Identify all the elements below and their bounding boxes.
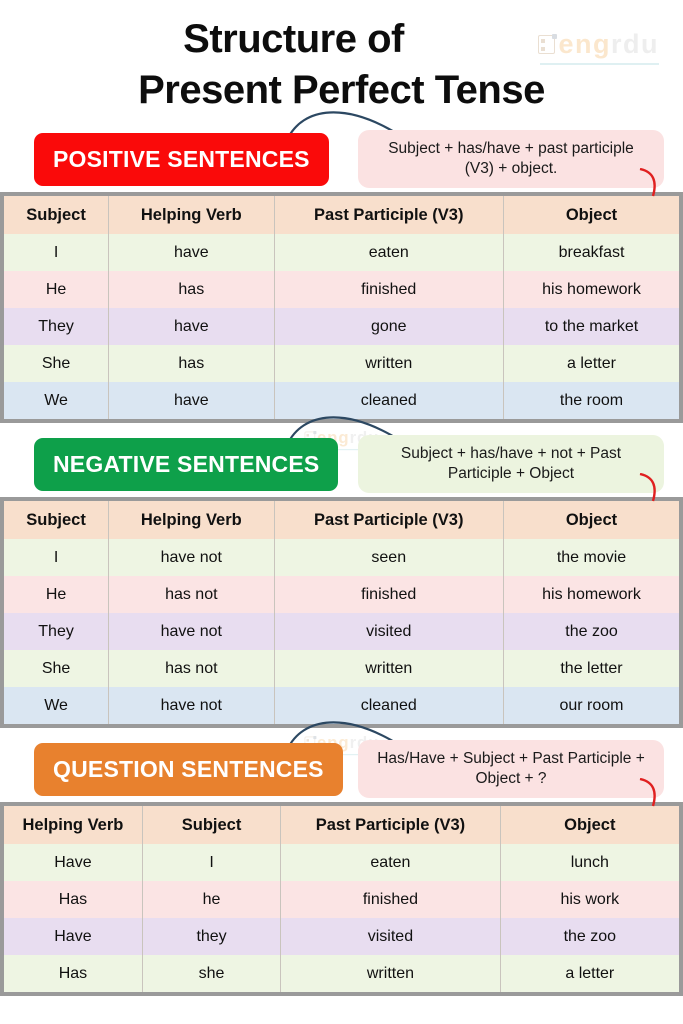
table-cell: He (4, 271, 109, 308)
table-cell: to the market (504, 308, 680, 345)
table-cell: have not (109, 613, 274, 650)
table-cell: she (142, 955, 280, 992)
connector-hook (638, 168, 660, 205)
table-cell: finished (274, 576, 504, 613)
table-row: Hashefinishedhis work (4, 881, 679, 918)
table-cell: his work (500, 881, 679, 918)
column-header: Helping Verb (109, 196, 274, 234)
table-cell: a letter (504, 345, 680, 382)
column-header: Past Participle (V3) (281, 806, 500, 844)
table-cell: visited (274, 613, 504, 650)
table-cell: have (109, 308, 274, 345)
table-cell: written (274, 345, 504, 382)
section-positive: POSITIVE SENTENCESSubject + has/have + p… (0, 130, 683, 423)
section-question: QUESTION SENTENCESHas/Have + Subject + P… (0, 740, 683, 996)
table-header-row: SubjectHelping VerbPast Participle (V3)O… (4, 196, 679, 234)
badge-positive[interactable]: POSITIVE SENTENCES (34, 133, 329, 186)
table-header-row: SubjectHelping VerbPast Participle (V3)O… (4, 501, 679, 539)
column-header: Helping Verb (109, 501, 274, 539)
table-row: HaveIeatenlunch (4, 844, 679, 881)
table-cell: eaten (274, 234, 504, 271)
table-cell: they (142, 918, 280, 955)
brand-underline (540, 63, 659, 65)
formula-negative: Subject + has/have + not + Past Particip… (358, 435, 664, 493)
table-negative: SubjectHelping VerbPast Participle (V3)O… (0, 497, 683, 728)
table-header-row: Helping VerbSubjectPast Participle (V3)O… (4, 806, 679, 844)
table-cell: I (4, 234, 109, 271)
table-cell: lunch (500, 844, 679, 881)
table-cell: his homework (504, 576, 680, 613)
table-cell: our room (504, 687, 680, 724)
table-cell: eaten (281, 844, 500, 881)
table-cell: the movie (504, 539, 680, 576)
column-header: Past Participle (V3) (274, 196, 504, 234)
brand-logo: engrdu (538, 31, 659, 58)
table-cell: the zoo (504, 613, 680, 650)
section-header-question: QUESTION SENTENCESHas/Have + Subject + P… (0, 740, 683, 802)
table-row: Hehasfinishedhis homework (4, 271, 679, 308)
table-cell: Has (4, 955, 142, 992)
table-cell: have (109, 382, 274, 419)
column-header: Subject (142, 806, 280, 844)
formula-text: Subject + has/have + past participle (V3… (372, 139, 650, 181)
table-cell: seen (274, 539, 504, 576)
table-cell: She (4, 650, 109, 687)
section-header-positive: POSITIVE SENTENCESSubject + has/have + p… (0, 130, 683, 192)
table-cell: he (142, 881, 280, 918)
table-cell: They (4, 613, 109, 650)
table-cell: the zoo (500, 918, 679, 955)
table-cell: a letter (500, 955, 679, 992)
table-cell: We (4, 687, 109, 724)
formula-text: Subject + has/have + not + Past Particip… (372, 444, 650, 486)
table-cell: Have (4, 918, 142, 955)
table-cell: She (4, 345, 109, 382)
table-cell: He (4, 576, 109, 613)
table-cell: I (142, 844, 280, 881)
table-row: Ihave notseenthe movie (4, 539, 679, 576)
column-header: Subject (4, 196, 109, 234)
table-cell: have not (109, 687, 274, 724)
connector-hook (638, 778, 660, 815)
table-cell: We (4, 382, 109, 419)
table-row: Shehas notwrittenthe letter (4, 650, 679, 687)
table-row: Havetheyvisitedthe zoo (4, 918, 679, 955)
table-cell: has not (109, 576, 274, 613)
column-header: Helping Verb (4, 806, 142, 844)
table-cell: the room (504, 382, 680, 419)
connector-hook (638, 473, 660, 510)
table-row: Hehas notfinishedhis homework (4, 576, 679, 613)
section-negative: NEGATIVE SENTENCESSubject + has/have + n… (0, 435, 683, 728)
table-cell: written (274, 650, 504, 687)
table-cell: the letter (504, 650, 680, 687)
formula-question: Has/Have + Subject + Past Participle + O… (358, 740, 664, 798)
table-row: Theyhavegoneto the market (4, 308, 679, 345)
table-row: Hasshewrittena letter (4, 955, 679, 992)
table-cell: I (4, 539, 109, 576)
table-row: Shehaswrittena letter (4, 345, 679, 382)
brand-name: engrdu (558, 31, 659, 58)
badge-question[interactable]: QUESTION SENTENCES (34, 743, 343, 796)
table-cell: has not (109, 650, 274, 687)
table-cell: finished (274, 271, 504, 308)
formula-text: Has/Have + Subject + Past Participle + O… (372, 749, 650, 791)
brand-mark-icon (538, 35, 555, 54)
table-cell: his homework (504, 271, 680, 308)
table-cell: has (109, 345, 274, 382)
table-question: Helping VerbSubjectPast Participle (V3)O… (0, 802, 683, 996)
table-cell: have (109, 234, 274, 271)
column-header: Subject (4, 501, 109, 539)
table-positive: SubjectHelping VerbPast Participle (V3)O… (0, 192, 683, 423)
sections-container: POSITIVE SENTENCESSubject + has/have + p… (0, 130, 683, 996)
formula-positive: Subject + has/have + past participle (V3… (358, 130, 664, 188)
table-cell: They (4, 308, 109, 345)
page-title: Structure of Present Perfect Tense engrd… (0, 0, 683, 116)
table-cell: Have (4, 844, 142, 881)
table-cell: breakfast (504, 234, 680, 271)
table-cell: finished (281, 881, 500, 918)
table-cell: has (109, 271, 274, 308)
section-header-negative: NEGATIVE SENTENCESSubject + has/have + n… (0, 435, 683, 497)
badge-negative[interactable]: NEGATIVE SENTENCES (34, 438, 338, 491)
column-header: Past Participle (V3) (274, 501, 504, 539)
table-cell: have not (109, 539, 274, 576)
table-cell: visited (281, 918, 500, 955)
table-cell: written (281, 955, 500, 992)
table-row: Theyhave notvisitedthe zoo (4, 613, 679, 650)
table-cell: gone (274, 308, 504, 345)
table-cell: Has (4, 881, 142, 918)
table-row: Ihaveeatenbreakfast (4, 234, 679, 271)
